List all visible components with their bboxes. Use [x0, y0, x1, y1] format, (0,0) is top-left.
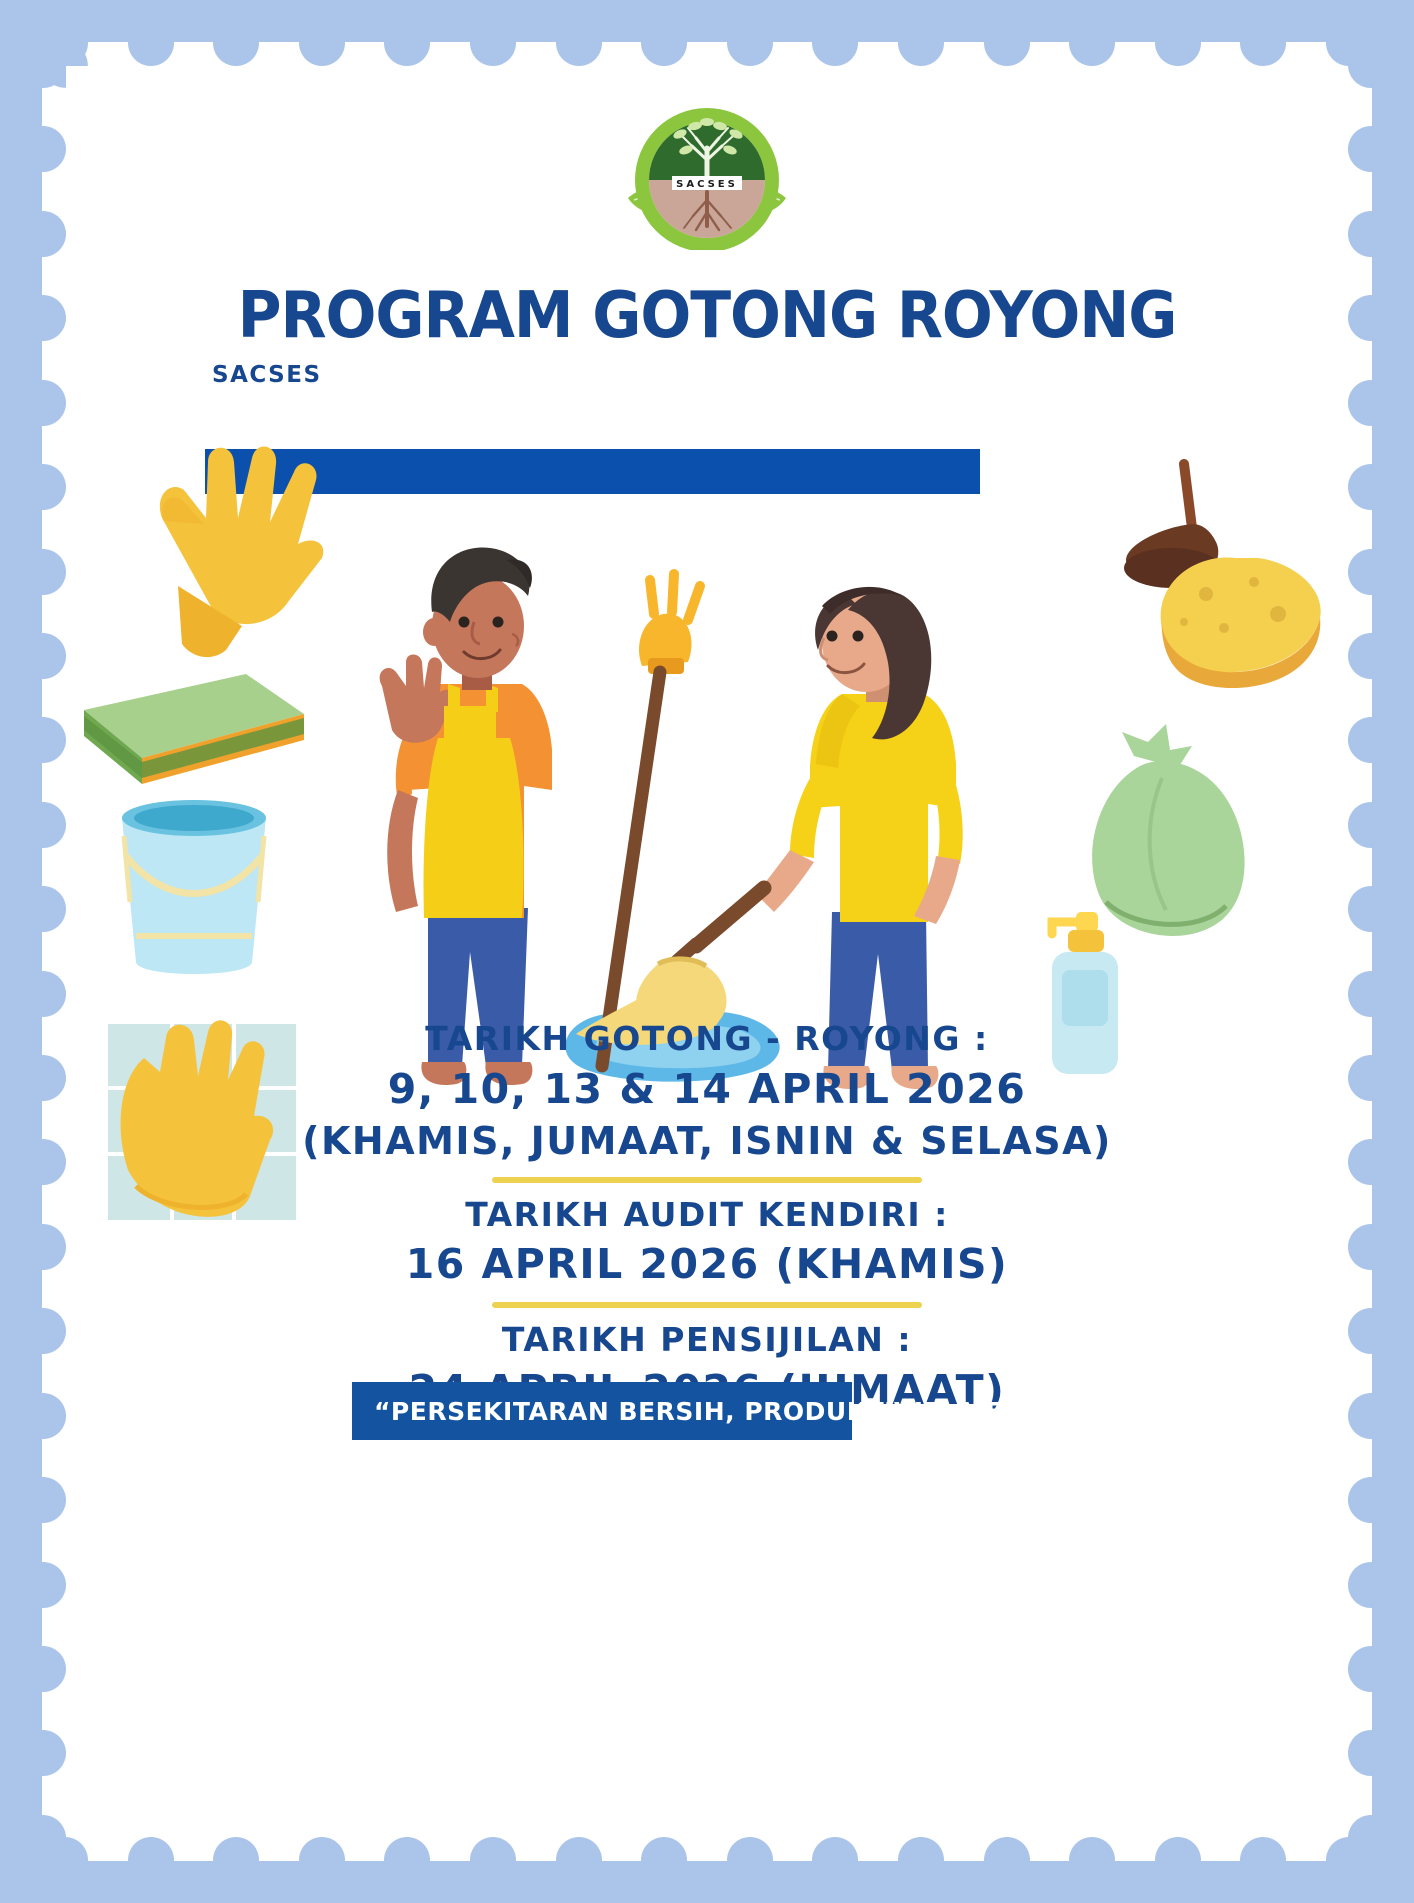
schedule-label: TARIKH PENSIJILAN :: [66, 1317, 1348, 1363]
plunger-brown-icon: [1124, 464, 1220, 588]
schedule-block: TARIKH GOTONG - ROYONG : 9, 10, 13 & 14 …: [66, 1016, 1348, 1417]
divider-rule-2: [492, 1302, 922, 1308]
sponge-green-icon: [84, 674, 304, 784]
schedule-label: TARIKH AUDIT KENDIRI :: [66, 1192, 1348, 1238]
schedule-days: (KHAMIS, JUMAAT, ISNIN & SELASA): [66, 1116, 1348, 1166]
poster-root: SACSES STANDARD SARAWAK CIVIL SERVICE EN…: [0, 0, 1414, 1903]
schedule-label: TARIKH GOTONG - ROYONG :: [66, 1016, 1348, 1062]
tagline-banner: “PERSEKITARAN BERSIH, PRODUKTIVITI MENIN…: [352, 1382, 852, 1440]
figure-woman-mopping: [756, 587, 963, 1089]
accent-bar: [205, 449, 980, 494]
sacses-logo: SACSES STANDARD SARAWAK CIVIL SERVICE EN…: [600, 100, 814, 250]
divider-rule-1: [492, 1177, 922, 1183]
schedule-date: 9, 10, 13 & 14 APRIL 2026: [66, 1062, 1348, 1116]
schedule-item-audit-kendiri: TARIKH AUDIT KENDIRI : 16 APRIL 2026 (KH…: [66, 1192, 1348, 1292]
logo-center-text: SACSES: [676, 179, 738, 190]
figure-boy-waving: [380, 548, 552, 1085]
sponge-yellow-icon: [1161, 557, 1321, 688]
page-subtitle: SACSES: [212, 362, 322, 388]
garbage-bag-green-icon: [1092, 724, 1244, 936]
schedule-item-gotong-royong: TARIKH GOTONG - ROYONG : 9, 10, 13 & 14 …: [66, 1016, 1348, 1166]
broom-icon: [602, 574, 700, 1066]
schedule-date: 16 APRIL 2026 (KHAMIS): [66, 1237, 1348, 1291]
bucket-blue-icon: [122, 800, 266, 974]
tagline-text: “PERSEKITARAN BERSIH, PRODUKTIVITI MENIN…: [352, 1397, 1149, 1426]
page-title: PROGRAM GOTONG ROYONG: [66, 284, 1348, 348]
poster-content: SACSES STANDARD SARAWAK CIVIL SERVICE EN…: [66, 66, 1348, 1837]
